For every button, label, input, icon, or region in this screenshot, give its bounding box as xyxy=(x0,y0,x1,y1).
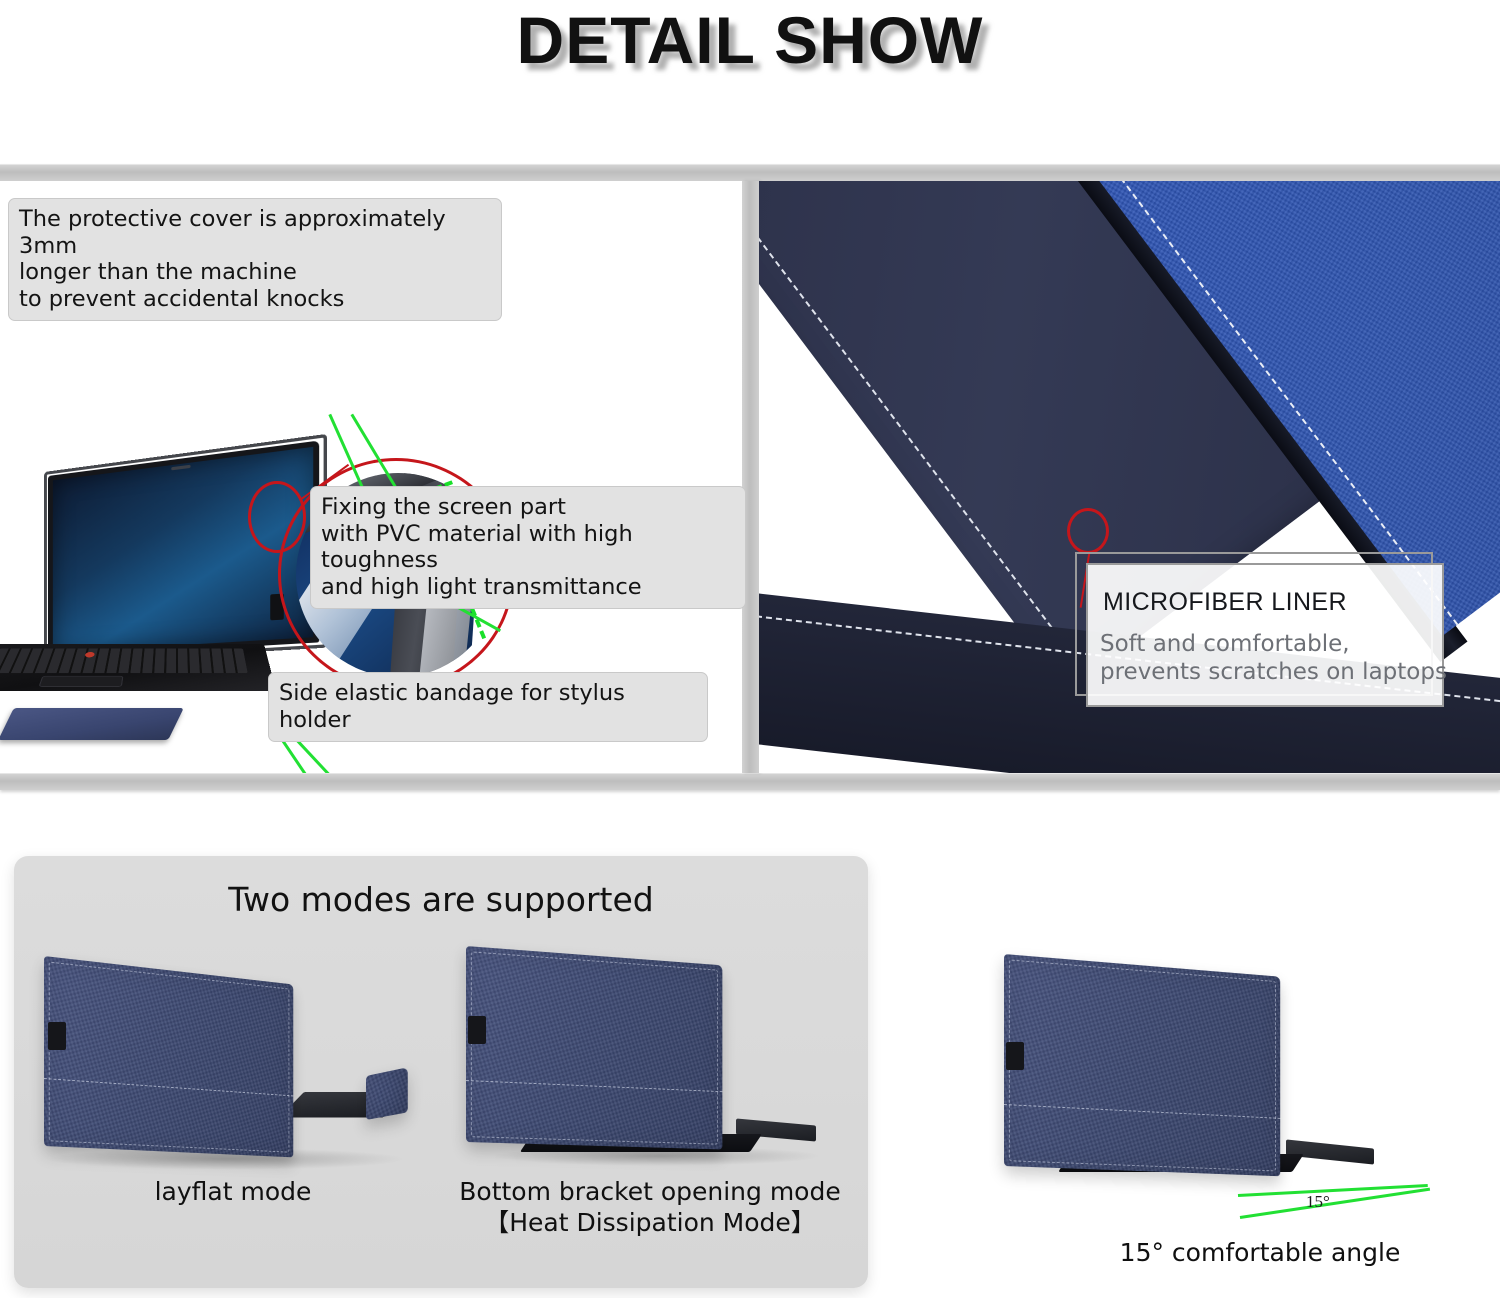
microfiber-title: MICROFIBER LINER xyxy=(1103,588,1347,617)
case-front-flap xyxy=(0,708,184,740)
render3-stylus-loop xyxy=(1006,1042,1024,1070)
render1-edge-stitch xyxy=(49,962,290,1153)
render-15-degree-angle xyxy=(968,948,1398,1188)
render1-back-flap xyxy=(366,1067,408,1120)
render2-lid xyxy=(466,946,722,1149)
render3-edge-stitch xyxy=(1009,959,1276,1171)
caption-comfortable-angle: 15° comfortable angle xyxy=(1060,1238,1460,1267)
laptop-base xyxy=(0,644,276,691)
callout-cover-length: The protective cover is approximately 3m… xyxy=(8,198,502,321)
render-layflat-mode xyxy=(36,950,436,1170)
touchpad xyxy=(38,676,123,687)
microfiber-subtitle: Soft and comfortable, prevents scratches… xyxy=(1100,630,1447,686)
two-modes-title: Two modes are supported xyxy=(14,880,868,919)
render-bracket-mode xyxy=(452,938,862,1170)
render1-stylus-loop xyxy=(48,1022,66,1050)
detail-show-page: DETAIL SHOW xyxy=(0,0,1500,1298)
caption-layflat-mode: layflat mode xyxy=(36,1176,430,1207)
red-circle-marker-microfiber xyxy=(1067,508,1109,554)
frame-top-bar xyxy=(0,164,1500,181)
render2-edge-stitch xyxy=(471,951,718,1144)
webcam-icon xyxy=(171,465,190,471)
callout-pvc-screen: Fixing the screen part with PVC material… xyxy=(310,486,746,609)
frame-bottom-bar xyxy=(0,773,1500,790)
callout-stylus-holder: Side elastic bandage for stylus holder xyxy=(268,672,708,742)
caption-bracket-mode: Bottom bracket opening mode 【Heat Dissip… xyxy=(440,1176,860,1238)
keyboard xyxy=(0,649,248,674)
angle-badge: 15° xyxy=(1306,1192,1330,1212)
render2-stylus-loop xyxy=(468,1016,486,1044)
frame-divider-bar xyxy=(742,181,759,773)
render3-lid xyxy=(1004,954,1280,1176)
page-title: DETAIL SHOW xyxy=(0,2,1500,78)
render1-lid xyxy=(44,956,293,1157)
